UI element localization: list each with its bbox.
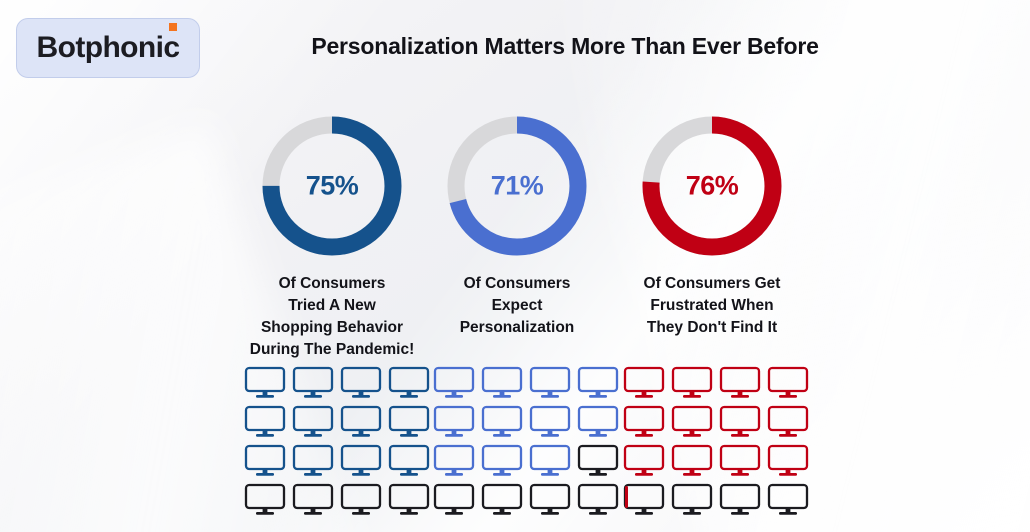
monitor-icon bbox=[718, 364, 762, 402]
monitor-icon bbox=[480, 364, 524, 402]
monitor-icon bbox=[528, 364, 572, 402]
monitor-icon bbox=[432, 364, 476, 402]
monitor-icon bbox=[718, 442, 762, 480]
monitor-icon bbox=[339, 364, 383, 402]
brand-logo: Botphonic bbox=[16, 18, 200, 78]
monitor-icon bbox=[291, 442, 335, 480]
donut-percent-label-2: 71% bbox=[443, 171, 591, 202]
monitor-icon bbox=[576, 481, 620, 519]
monitor-icon bbox=[387, 481, 431, 519]
brand-logo-accent-dot-icon bbox=[169, 23, 177, 31]
donut-chart-1: 75% bbox=[258, 112, 406, 260]
stat-caption-1: Of Consumers Tried A New Shopping Behavi… bbox=[250, 273, 415, 361]
monitor-icon bbox=[480, 442, 524, 480]
monitor-icon bbox=[622, 364, 666, 402]
monitor-icon bbox=[718, 481, 762, 519]
monitor-icon bbox=[243, 364, 287, 402]
monitor-icon bbox=[670, 442, 714, 480]
monitor-icon bbox=[670, 481, 714, 519]
monitor-icon bbox=[432, 442, 476, 480]
stat-column-1: 75% Of Consumers Tried A New Shopping Be… bbox=[226, 112, 438, 361]
monitor-icon bbox=[766, 442, 810, 480]
stat-column-2: 71% Of Consumers Expect Personalization bbox=[411, 112, 623, 339]
monitor-icon bbox=[528, 481, 572, 519]
monitor-icon bbox=[480, 481, 524, 519]
pictogram-grid-2 bbox=[432, 364, 620, 519]
monitor-icon bbox=[387, 403, 431, 441]
brand-logo-text: Botphonic bbox=[37, 33, 180, 63]
monitor-icon bbox=[339, 481, 383, 519]
monitor-icon bbox=[766, 403, 810, 441]
monitor-icon bbox=[291, 364, 335, 402]
monitor-icon bbox=[622, 403, 666, 441]
donut-chart-2: 71% bbox=[443, 112, 591, 260]
monitor-icon bbox=[480, 403, 524, 441]
monitor-icon bbox=[766, 481, 810, 519]
monitor-icon bbox=[528, 403, 572, 441]
monitor-icon bbox=[291, 403, 335, 441]
stat-caption-2: Of Consumers Expect Personalization bbox=[460, 273, 575, 339]
monitor-icon bbox=[243, 403, 287, 441]
monitor-icon bbox=[766, 364, 810, 402]
stat-column-3: 76% Of Consumers Get Frustrated When The… bbox=[606, 112, 818, 339]
monitor-icon bbox=[243, 481, 287, 519]
monitor-icon bbox=[243, 442, 287, 480]
pictogram-grid-1 bbox=[243, 364, 431, 519]
monitor-icon bbox=[339, 403, 383, 441]
monitor-icon bbox=[339, 442, 383, 480]
infographic-canvas: Botphonic Personalization Matters More T… bbox=[0, 0, 1030, 532]
monitor-icon bbox=[432, 481, 476, 519]
monitor-icon bbox=[670, 403, 714, 441]
brand-logo-label: Botphonic bbox=[37, 31, 180, 64]
donut-percent-label-3: 76% bbox=[638, 171, 786, 202]
monitor-icon bbox=[718, 403, 762, 441]
monitor-icon bbox=[576, 442, 620, 480]
donut-percent-label-1: 75% bbox=[258, 171, 406, 202]
monitor-icon bbox=[622, 481, 666, 519]
page-title: Personalization Matters More Than Ever B… bbox=[215, 33, 915, 60]
monitor-icon bbox=[528, 442, 572, 480]
monitor-icon bbox=[432, 403, 476, 441]
donut-chart-3: 76% bbox=[638, 112, 786, 260]
monitor-icon bbox=[291, 481, 335, 519]
monitor-icon bbox=[387, 442, 431, 480]
monitor-icon bbox=[576, 364, 620, 402]
monitor-icon bbox=[576, 403, 620, 441]
monitor-icon bbox=[387, 364, 431, 402]
pictogram-grid-3 bbox=[622, 364, 810, 519]
stat-caption-3: Of Consumers Get Frustrated When They Do… bbox=[644, 273, 781, 339]
monitor-icon bbox=[622, 442, 666, 480]
monitor-icon bbox=[670, 364, 714, 402]
